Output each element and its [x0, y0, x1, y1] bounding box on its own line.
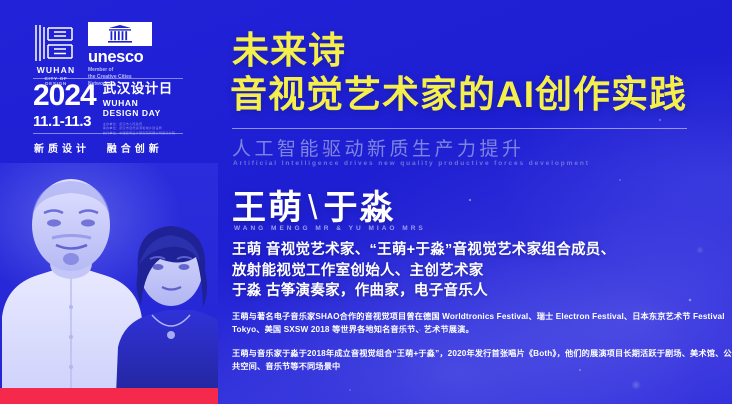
event-name-en-line1: WUHAN [103, 98, 175, 109]
bio-line-3: 于淼 古筝演奏家，作曲家，电子音乐人 [232, 281, 615, 302]
talk-title-line1: 未来诗 [232, 32, 346, 70]
event-name-cn: 武汉设计日 [103, 82, 175, 96]
bio-line-2: 放射能视觉工作室创始人、主创艺术家 [232, 261, 615, 282]
speaker-bio: 王萌 音视觉艺术家、“王萌+于淼”音视觉艺术家组合成员、 放射能视觉工作室创始人… [232, 240, 615, 302]
talk-title-line2: 音视觉艺术家的AI创作实践 [230, 76, 687, 114]
unesco-wordmark: unesco [88, 48, 152, 66]
divider-bottom [33, 133, 183, 134]
speaker-name-first: 王萌 [232, 189, 304, 227]
speaker-paragraph-1: 王萌与著名电子音乐家SHAO合作的音视觉项目曾在德国 Worldtronics … [232, 310, 732, 337]
tagline-part-2: 融合创新 [107, 144, 163, 155]
title-divider [232, 128, 687, 129]
speakers-portrait-photo [0, 163, 218, 388]
tagline-part-1: 新质设计 [34, 144, 90, 155]
speaker-names-romanized: WANG MENGG MR & YU MIAO MRS [234, 225, 426, 232]
speaker-female-figure-icon [108, 215, 218, 388]
event-date-range: 11.1-11.3 [33, 113, 96, 130]
talk-subtitle-cn: 人工智能驱动新质生产力提升 [232, 134, 525, 161]
unesco-emblem [88, 22, 152, 46]
unesco-tagline-line1: Member of [88, 67, 152, 74]
main-content: 未来诗 音视觉艺术家的AI创作实践 人工智能驱动新质生产力提升 Artifici… [218, 0, 732, 404]
event-date-block: 2024 11.1-11.3 武汉设计日 WUHAN DESIGN DAY 主办… [33, 82, 175, 136]
speaker-names: 王萌\于淼 [232, 180, 395, 229]
event-tagline: 新质设计 融合创新 [34, 140, 173, 155]
speaker-paragraph-2: 王萌与音乐家于淼于2018年成立音视觉组合“王萌+于淼”，2020年发行首张唱片… [232, 347, 732, 374]
event-year: 2024 [33, 82, 96, 110]
bio-line-1: 王萌 音视觉艺术家、“王萌+于淼”音视觉艺术家组合成员、 [232, 240, 615, 261]
event-name-en-line2: DESIGN DAY [103, 108, 175, 119]
name-separator: \ [308, 189, 319, 227]
event-poster: WUHAN CITY OF DESIGN [0, 0, 732, 404]
wuhan-seal-icon [33, 22, 75, 64]
accent-red-bar [0, 388, 218, 404]
speaker-name-second: 于淼 [323, 189, 395, 227]
event-name-en: WUHAN DESIGN DAY [103, 98, 175, 119]
wuhan-logo-name: WUHAN [33, 66, 79, 76]
talk-subtitle-en: Artificial Intelligence drives new quali… [233, 160, 590, 167]
left-branding-column: WUHAN CITY OF DESIGN [0, 0, 218, 404]
unesco-temple-icon [107, 25, 133, 44]
